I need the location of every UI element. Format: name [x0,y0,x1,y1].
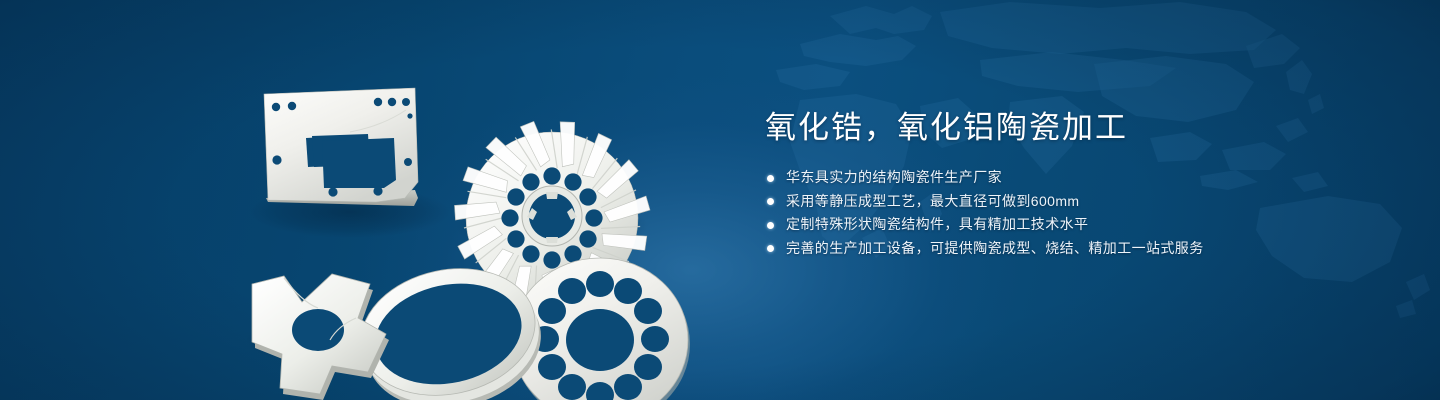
ceramic-products-photo [200,40,720,380]
bullet-dot-icon [767,175,774,182]
list-item-label: 华东具实力的结构陶瓷件生产厂家 [786,169,1002,185]
list-item-label: 采用等静压成型工艺，最大直径可做到600mm [786,193,1079,209]
page-title: 氧化锆，氧化铝陶瓷加工 [765,108,1365,148]
list-item-label: 定制特殊形状陶瓷结构件，具有精加工技术水平 [786,216,1088,232]
hero-banner: 氧化锆，氧化铝陶瓷加工 华东具实力的结构陶瓷件生产厂家 采用等静压成型工艺，最大… [0,0,1440,400]
list-item: 华东具实力的结构陶瓷件生产厂家 [765,166,1365,190]
list-item: 完善的生产加工设备，可提供陶瓷成型、烧结、精加工一站式服务 [765,237,1365,261]
list-item-label: 完善的生产加工设备，可提供陶瓷成型、烧结、精加工一站式服务 [786,240,1204,256]
bullet-dot-icon [767,245,774,252]
bullet-dot-icon [767,198,774,205]
list-item: 定制特殊形状陶瓷结构件，具有精加工技术水平 [765,213,1365,237]
banner-copy: 氧化锆，氧化铝陶瓷加工 华东具实力的结构陶瓷件生产厂家 采用等静压成型工艺，最大… [765,108,1365,260]
bullet-dot-icon [767,222,774,229]
list-item: 采用等静压成型工艺，最大直径可做到600mm [765,190,1365,214]
product-ceramic-plate [264,88,418,206]
feature-list: 华东具实力的结构陶瓷件生产厂家 采用等静压成型工艺，最大直径可做到600mm 定… [765,166,1365,260]
